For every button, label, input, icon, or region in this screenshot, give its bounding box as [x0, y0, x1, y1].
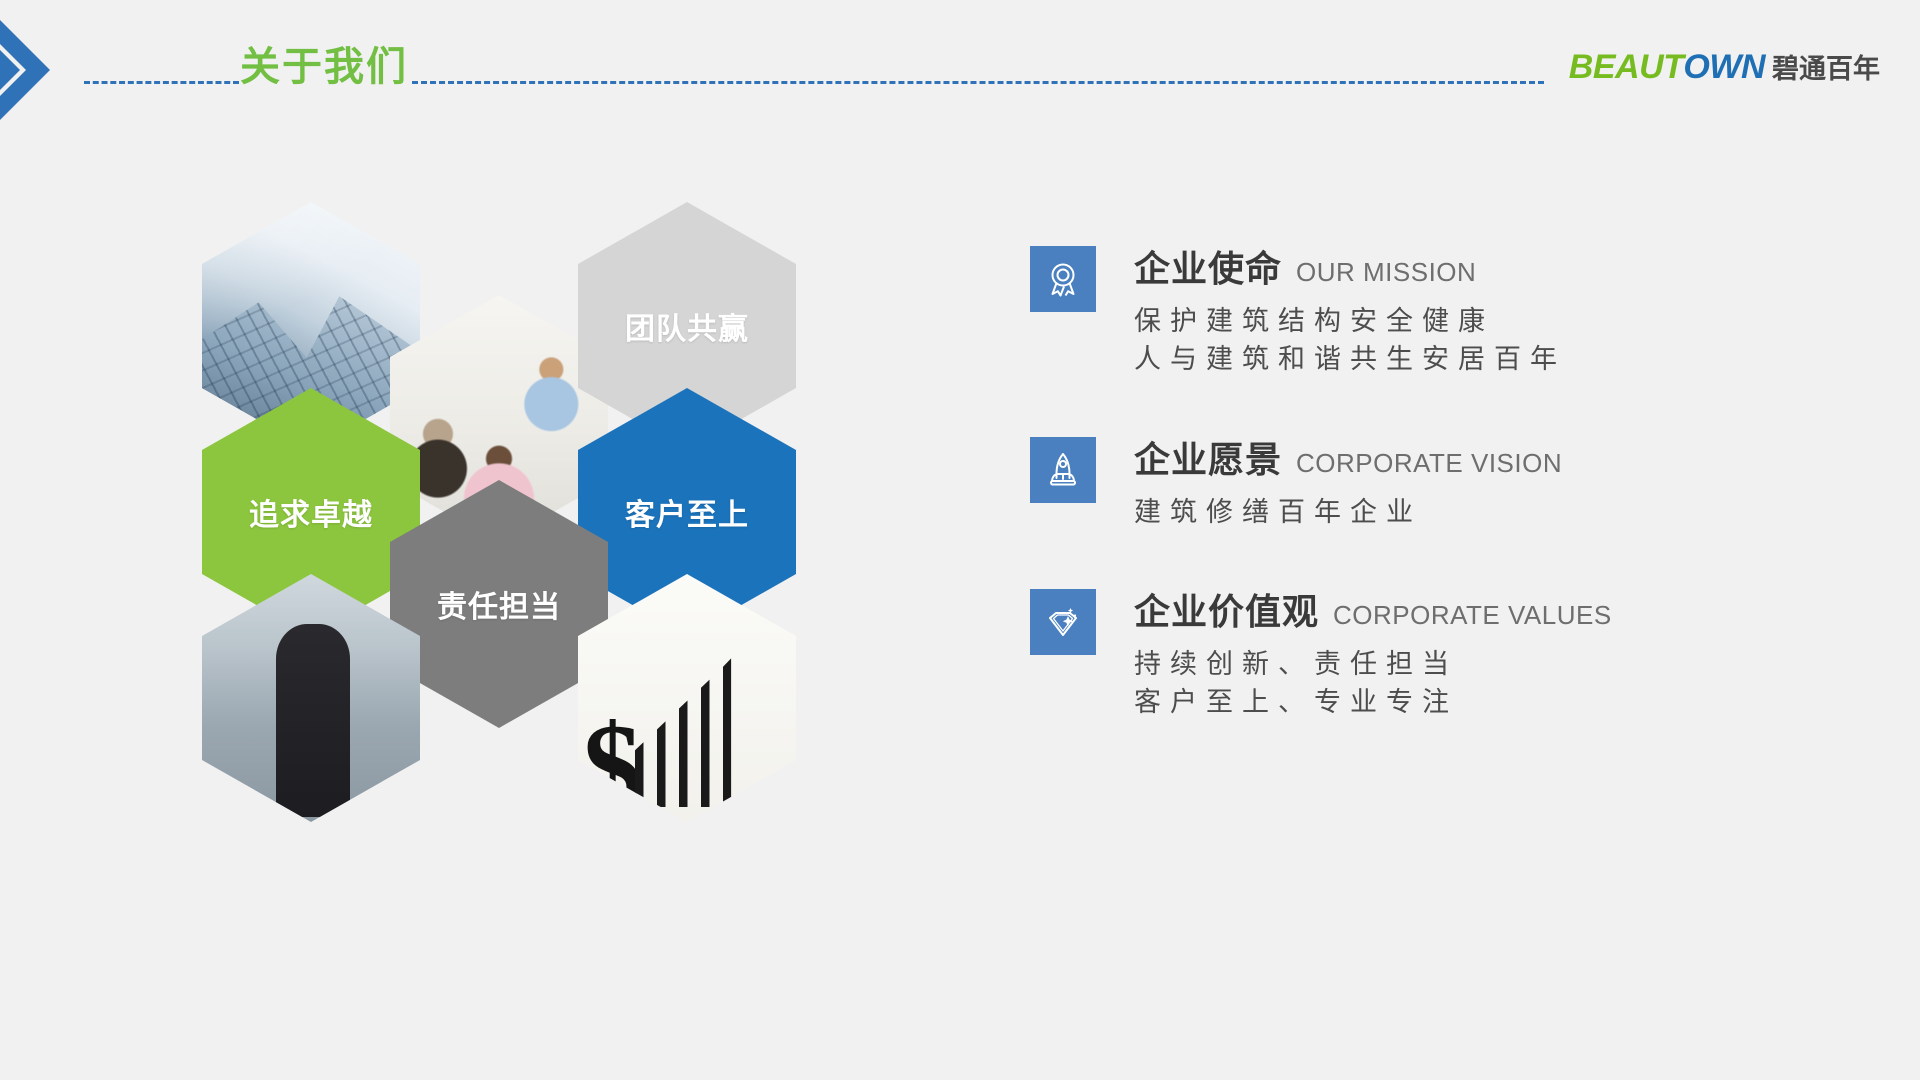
hex-label-responsibility: 责任担当 [437, 582, 561, 626]
award-medal-icon [1030, 246, 1096, 312]
block-title-en: OUR MISSION [1296, 257, 1476, 288]
hex-label-customer: 客户至上 [625, 490, 749, 534]
header-rule-right [412, 81, 1544, 84]
slide-root: 关于我们 BEAUTOWN碧通百年 团队共赢 追求卓越 客户至上 责任担当 $ [0, 0, 1920, 1080]
block-title-cn: 企业价值观 [1134, 583, 1319, 635]
double-chevron-right-icon [0, 14, 70, 126]
brand-logo-cn: 碧通百年 [1772, 56, 1880, 83]
hexagon-cluster: 团队共赢 追求卓越 客户至上 责任担当 $ [180, 180, 920, 880]
slide-header: 关于我们 BEAUTOWN碧通百年 [0, 0, 1920, 140]
diamond-gem-icon [1030, 589, 1096, 655]
about-content: 企业使命 OUR MISSION 保护建筑结构安全健康 人与建筑和谐共生安居百年 [1030, 240, 1850, 774]
hex-label-growth: $ [582, 715, 642, 817]
header-rule-left [84, 81, 239, 84]
hex-cell-responsibility: 责任担当 [390, 480, 608, 728]
content-block-mission: 企业使命 OUR MISSION 保护建筑结构安全健康 人与建筑和谐共生安居百年 [1030, 240, 1850, 379]
block-title-en: CORPORATE VISION [1296, 448, 1562, 479]
block-line: 人与建筑和谐共生安居百年 [1134, 340, 1850, 378]
hex-label-excellence: 追求卓越 [249, 490, 373, 534]
content-block-head: 企业愿景 CORPORATE VISION [1134, 431, 1850, 487]
content-block-head: 企业使命 OUR MISSION [1134, 240, 1850, 296]
brand-logo-green: BEAUT [1569, 50, 1684, 84]
content-block-lines: 保护建筑结构安全健康 人与建筑和谐共生安居百年 [1134, 302, 1850, 379]
content-block-lines: 建筑修缮百年企业 [1134, 493, 1850, 531]
block-line: 客户至上、专业专注 [1134, 683, 1850, 721]
content-block-head: 企业价值观 CORPORATE VALUES [1134, 583, 1850, 639]
block-line: 持续创新、责任担当 [1134, 645, 1850, 683]
content-block-vision: 企业愿景 CORPORATE VISION 建筑修缮百年企业 [1030, 431, 1850, 531]
hex-cell-cityview [202, 574, 420, 822]
hex-label-teamwork: 团队共赢 [625, 304, 749, 348]
block-title-en: CORPORATE VALUES [1333, 600, 1612, 631]
block-title-cn: 企业使命 [1134, 240, 1282, 292]
hex-cell-growth: $ [578, 574, 796, 822]
block-line: 保护建筑结构安全健康 [1134, 302, 1850, 340]
brand-logo-blue: OWN [1683, 50, 1765, 84]
content-block-values: 企业价值观 CORPORATE VALUES 持续创新、责任担当 客户至上、专业… [1030, 583, 1850, 722]
brand-logo: BEAUTOWN碧通百年 [1569, 50, 1880, 84]
page-title: 关于我们 [240, 47, 400, 87]
content-block-lines: 持续创新、责任担当 客户至上、专业专注 [1134, 645, 1850, 722]
block-title-cn: 企业愿景 [1134, 431, 1282, 483]
rocket-icon [1030, 437, 1096, 503]
block-line: 建筑修缮百年企业 [1134, 493, 1850, 531]
